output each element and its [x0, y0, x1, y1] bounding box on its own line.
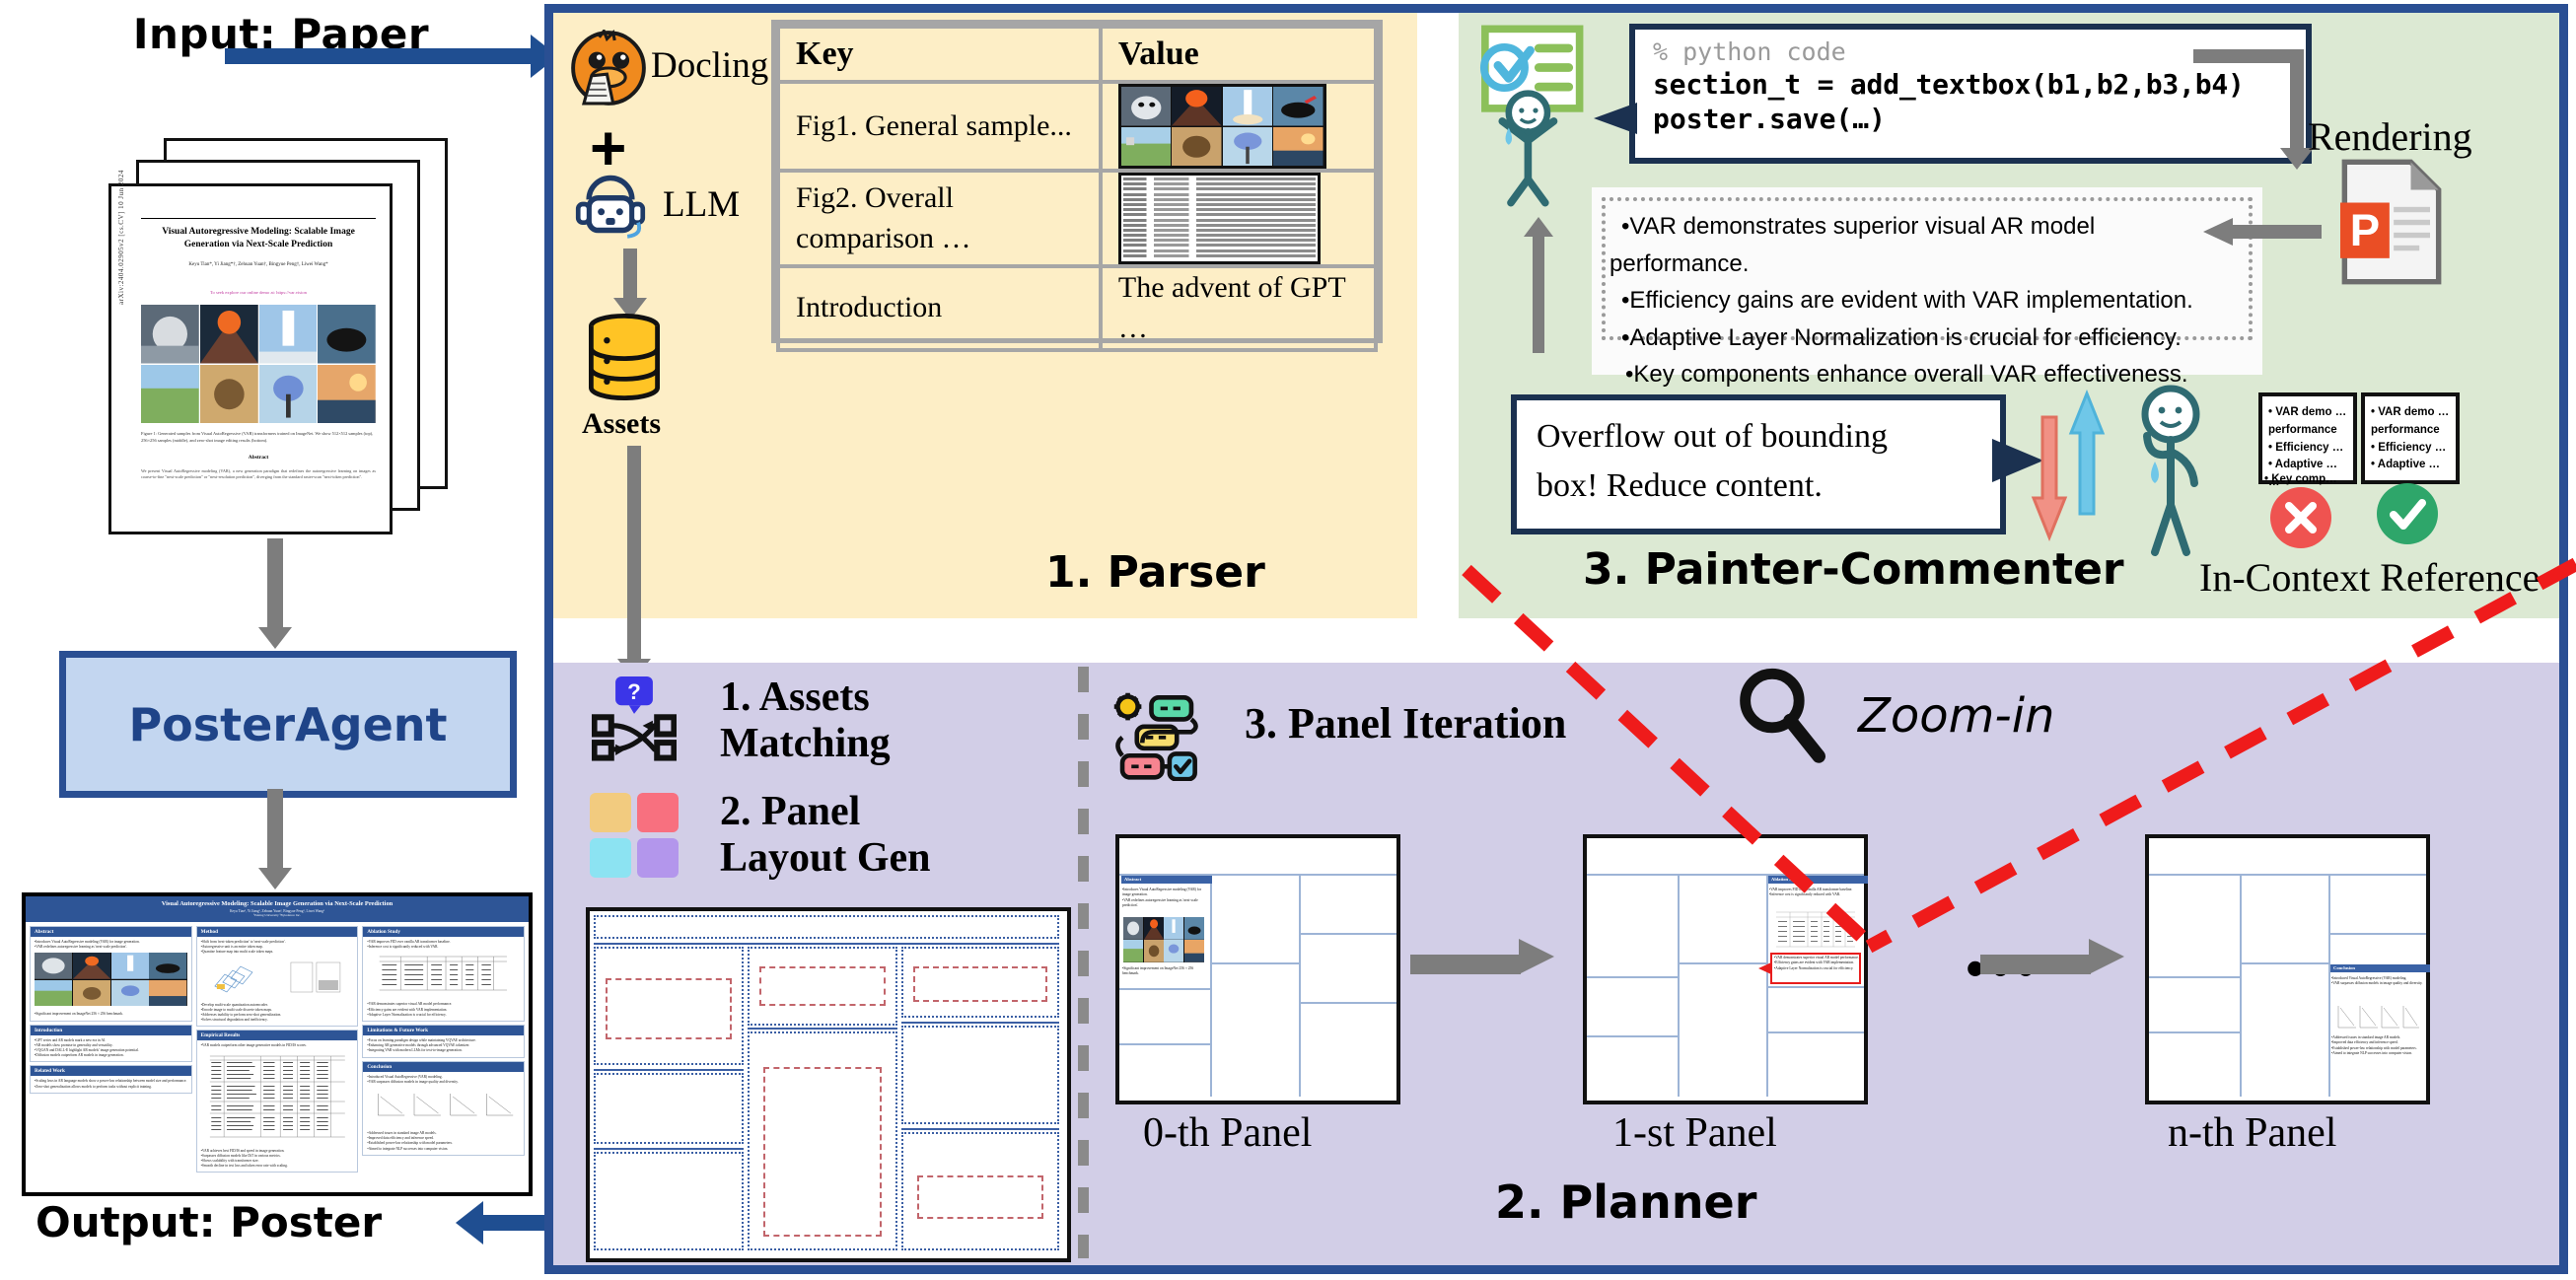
check-mark-icon	[2375, 481, 2440, 546]
panel-preview-n[interactable]: Conclusion •Introduced Visual AutoRegres…	[2145, 834, 2430, 1104]
posteragent-box[interactable]: PosterAgent	[59, 651, 517, 798]
panel-layout-mockup	[586, 907, 1071, 1262]
poster-section-abstract: Abstract •Introduces Visual AutoRegressi…	[30, 926, 192, 1022]
overflow-highlight-box: •VAR demonstrates superior visual AR mod…	[1770, 953, 1861, 984]
step-2-line-1: 2. Panel	[720, 789, 931, 835]
poster-section-head: Conclusion	[363, 1062, 524, 1072]
arrow-render-to-text-head	[2203, 218, 2233, 246]
panel-figure	[1123, 917, 1204, 962]
poster-column-mid: Method •Shift from 'next-token predictio…	[196, 926, 359, 1160]
panel-section-after: •Addressed issues in standard image AR m…	[2331, 1035, 2424, 1057]
paper-links: To seek explore our online demo at: http…	[141, 289, 376, 296]
assets-matching-icon: ?	[592, 676, 677, 761]
painter-section-title: 3. Painter-Commenter	[1583, 544, 2124, 595]
arrow-paper-to-agent-shaft	[267, 538, 283, 629]
arrow-paper-to-parser-shaft	[225, 48, 531, 64]
step-1-line-2: Matching	[720, 721, 891, 767]
panel-section-text: •Introduces Visual AutoRegressive modeli…	[1122, 888, 1207, 909]
table-header-key: Key	[778, 27, 1101, 82]
painter-person-icon	[2111, 385, 2229, 557]
generated-code-bubble: % python code section_t = add_textbox(b1…	[1629, 24, 2312, 164]
llm-label: LLM	[663, 183, 740, 226]
panel-highlight-text: •VAR demonstrates superior visual AR mod…	[1774, 956, 1861, 971]
arrow-feedback-head	[1524, 217, 1553, 237]
zoom-in-label: Zoom-in	[1858, 688, 2054, 744]
in-context-reference-label: In-Context Reference	[2199, 554, 2540, 601]
planner-divider	[1078, 667, 1089, 1258]
arrow-agent-to-poster-shaft	[267, 789, 283, 870]
assets-label: Assets	[582, 407, 661, 441]
icr-line: performance	[2268, 422, 2347, 440]
table-cell-key: Fig2. Overall comparison …	[778, 171, 1101, 266]
arrow-render-to-text-shaft	[2231, 225, 2322, 239]
poster-section-after: •VAR achieves best FID/IS and speed in i…	[197, 1146, 358, 1173]
poster-affiliation: ¹Peking University ²Bytedance Inc.	[26, 913, 529, 917]
paper-abstract-body: We present Visual AutoRegressive modelin…	[141, 468, 376, 480]
planner-step-1-label: 1. Assets Matching	[720, 675, 891, 767]
poster-section-after: •Addressed issues in standard image AR m…	[363, 1128, 524, 1155]
panel-chart-figure	[2334, 1002, 2421, 1031]
icr-line: • VAR demo …	[2371, 404, 2450, 422]
llm-robot-icon	[572, 166, 649, 243]
figure1-thumbnail	[1118, 84, 1326, 169]
table-row: Introduction The advent of GPT …	[778, 266, 1376, 350]
poster-section-body: •Shift from 'next-token prediction' to '…	[197, 937, 358, 959]
table-header-value: Value	[1101, 27, 1376, 82]
bullet-line: performance.	[1604, 245, 2258, 282]
panel-preview-1[interactable]: Ablation Study •VAR improves FID over va…	[1583, 834, 1868, 1104]
poster-section-head: Abstract	[31, 927, 191, 937]
table-cell-key: Fig1. General sample...	[778, 82, 1101, 171]
output-label-rest: Poster	[216, 1198, 383, 1246]
poster-section-body: •VAR improves FID over vanilla AR transf…	[363, 937, 524, 953]
planner-section-title: 2. Planner	[1495, 1175, 1756, 1229]
svg-text:P: P	[2350, 205, 2380, 255]
poster-section-head: Empirical Results	[197, 1031, 358, 1040]
step-1-line-1: 1. Assets	[720, 675, 891, 721]
poster-section-head: Related Work	[31, 1066, 191, 1076]
panel-section-after: •Significant improvement on ImageNet 256…	[1122, 966, 1207, 977]
poster-section-body: •VAR models outperform other image gener…	[197, 1040, 358, 1051]
commenter-feedback-bubble: Overflow out of bounding box! Reduce con…	[1511, 394, 2006, 534]
swatch-3	[590, 838, 631, 878]
bullet-line: •Efficiency gains are evident with VAR i…	[1604, 281, 2258, 319]
feedback-line-1: Overflow out of bounding	[1517, 400, 2000, 460]
poster-section-related-work: Related Work •Scaling laws in AR languag…	[30, 1065, 192, 1093]
docling-duck-icon	[570, 30, 647, 107]
poster-section-head: Limitations & Future Work	[363, 1026, 524, 1035]
adjust-up-down-arrows-icon	[2024, 390, 2112, 542]
panel-section-text: •Introduced Visual AutoRegressive (VAR) …	[2331, 976, 2424, 987]
bullet-line: •VAR demonstrates superior visual AR mod…	[1604, 207, 2258, 245]
paper-abstract-heading: Abstract	[141, 455, 376, 461]
table-cell-value	[1101, 82, 1376, 171]
feedback-line-2: box! Reduce content.	[1517, 460, 2000, 509]
arrow-assets-to-planner-shaft	[627, 446, 641, 665]
arrow-panel0-to-panel1-shaft	[1410, 955, 1521, 974]
arrow-code-to-render-shaft-h	[2193, 49, 2302, 63]
powerpoint-file-icon: P	[2337, 158, 2446, 286]
assets-database-icon	[584, 314, 665, 400]
paper-arxiv-stamp: arXiv:2404.02905v2 [cs.CV] 10 Jun 2024	[117, 107, 125, 305]
panel-label-n: n-th Panel	[2168, 1109, 2336, 1157]
panel-color-swatches	[590, 793, 679, 878]
paper-figure-grid	[141, 305, 376, 423]
bullet-list: •VAR demonstrates superior visual AR mod…	[1604, 207, 2258, 392]
panel-iteration-icon	[1111, 690, 1202, 781]
table-cell-value	[1101, 171, 1376, 266]
panel-label-1: 1-st Panel	[1612, 1109, 1777, 1157]
code-line-2: poster.save(…)	[1635, 101, 2306, 135]
output-label-bold: Output:	[36, 1198, 216, 1246]
arrow-to-paneln-head	[2089, 939, 2124, 974]
table-row: Fig1. General sample...	[778, 82, 1376, 171]
arrow-feedback-shaft	[1533, 235, 1544, 353]
parsed-key-value-table: Key Value Fig1. General sample... Fig2. …	[771, 20, 1383, 343]
posteragent-label: PosterAgent	[128, 698, 447, 751]
paper-authors: Keyu Tian*, Yi Jiang*†, Zehuan Yuan†, Bi…	[141, 261, 376, 269]
panel-label-0: 0-th Panel	[1143, 1109, 1312, 1157]
bullet-line: •Adaptive Layer Normalization is crucial…	[1604, 319, 2258, 356]
icr-line: • VAR demo …	[2268, 404, 2347, 422]
magnifier-icon	[1736, 667, 1826, 765]
poster-section-body: •Focus on learning paradigm design while…	[363, 1035, 524, 1057]
overflow-pointer-arrow	[1758, 962, 1771, 974]
icr-card-lines: • VAR demo … performance • Efficiency … …	[2365, 396, 2456, 482]
arrow-llm-to-assets-shaft	[623, 249, 637, 304]
table-row: Fig2. Overall comparison …	[778, 171, 1376, 266]
table-cell-key: Introduction	[778, 266, 1101, 350]
cross-mark-icon	[2268, 485, 2333, 550]
poster-column-left: Abstract •Introduces Visual AutoRegressi…	[30, 926, 192, 1160]
poster-section-body: •Introduced Visual AutoRegressive (VAR) …	[363, 1072, 524, 1088]
paper-figure-caption: Figure 1: Generated samples from Visual …	[141, 431, 376, 444]
arrow-planner-to-output-head	[456, 1201, 483, 1244]
rendered-text-block: •VAR demonstrates superior visual AR mod…	[1592, 187, 2262, 375]
poster-section-introduction: Introduction •GPT series and AR models m…	[30, 1025, 192, 1063]
code-line-1: section_t = add_textbox(b1,b2,b3,b4)	[1635, 66, 2306, 101]
panel-section-text: •VAR improves FID over vanilla AR transf…	[1769, 888, 1862, 898]
poster-section-after: •VAR demonstrates superior visual AR mod…	[363, 999, 524, 1021]
commenter-person-icon	[1476, 25, 1595, 207]
poster-column-right: Ablation Study •VAR improves FID over va…	[362, 926, 525, 1160]
code-bubble-tail	[1594, 103, 1637, 134]
swatch-2	[637, 793, 679, 832]
planner-step-3-label: 3. Panel Iteration	[1245, 698, 1566, 748]
panel-table-figure	[1774, 909, 1857, 949]
step-2-line-2: Layout Gen	[720, 835, 931, 882]
icr-line: • Efficiency …	[2268, 440, 2347, 458]
poster-title: Visual Autoregressive Modeling: Scalable…	[26, 900, 529, 907]
arrow-agent-to-poster-head	[258, 868, 292, 889]
arrow-paper-to-agent-head	[258, 627, 292, 649]
svg-text:?: ?	[627, 679, 641, 704]
poster-section-after: •Develop multi-scale quantization autoen…	[197, 1000, 358, 1027]
poster-section-ablation-study: Ablation Study •VAR improves FID over va…	[362, 926, 525, 1022]
figure2-table-thumbnail	[1118, 173, 1321, 264]
planner-step-2-label: 2. Panel Layout Gen	[720, 789, 931, 882]
parser-section-title: 1. Parser	[1045, 547, 1265, 598]
rendering-label: Rendering	[2308, 113, 2472, 160]
poster-section-conclusion: Conclusion •Introduced Visual AutoRegres…	[362, 1061, 525, 1156]
swatch-4	[637, 838, 679, 878]
poster-section-after: •Significant improvement on ImageNet 256…	[31, 1009, 191, 1020]
panel-section-head: Ablation Study	[1768, 876, 1868, 884]
icr-line: performance	[2371, 422, 2450, 440]
arrow-code-to-render-shaft-v	[2290, 49, 2304, 156]
panel-section-head: Conclusion	[2330, 964, 2430, 972]
output-label: Output: Poster	[36, 1198, 450, 1246]
poster-section-body: •Introduces Visual AutoRegressive modeli…	[31, 937, 191, 953]
icr-line: • Efficiency …	[2371, 440, 2450, 458]
icr-line: • Adaptive …	[2371, 457, 2450, 474]
poster-section-head: Ablation Study	[363, 927, 524, 937]
poster-section-empirical-results: Empirical Results •VAR models outperform…	[196, 1030, 359, 1173]
poster-section-body: •GPT series and AR models mark a new era…	[31, 1035, 191, 1062]
poster-banner: Visual Autoregressive Modeling: Scalable…	[26, 896, 529, 922]
swatch-1	[590, 793, 631, 832]
poster-section-body: •Scaling laws in AR language models show…	[31, 1076, 191, 1092]
paper-document: arXiv:2404.02905v2 [cs.CV] 10 Jun 2024 V…	[108, 183, 393, 534]
in-context-reference-card-good: • VAR demo … performance • Efficiency … …	[2361, 392, 2460, 484]
panel-preview-0[interactable]: Abstract •Introduces Visual AutoRegressi…	[1115, 834, 1400, 1104]
poster-section-limitations: Limitations & Future Work •Focus on lear…	[362, 1025, 525, 1058]
docling-label: Docling	[651, 44, 768, 87]
poster-section-head: Introduction	[31, 1026, 191, 1035]
panel-section-head: Abstract	[1121, 876, 1212, 884]
table-cell-value: The advent of GPT …	[1101, 266, 1376, 350]
paper-title: Visual Autoregressive Modeling: Scalable…	[141, 218, 376, 251]
arrow-to-paneln-shaft	[1980, 955, 2091, 974]
poster-section-head: Method	[197, 927, 358, 937]
output-poster-preview[interactable]: Visual Autoregressive Modeling: Scalable…	[22, 892, 533, 1196]
poster-section-method: Method •Shift from 'next-token predictio…	[196, 926, 359, 1027]
arrow-panel0-to-panel1-head	[1519, 939, 1554, 974]
